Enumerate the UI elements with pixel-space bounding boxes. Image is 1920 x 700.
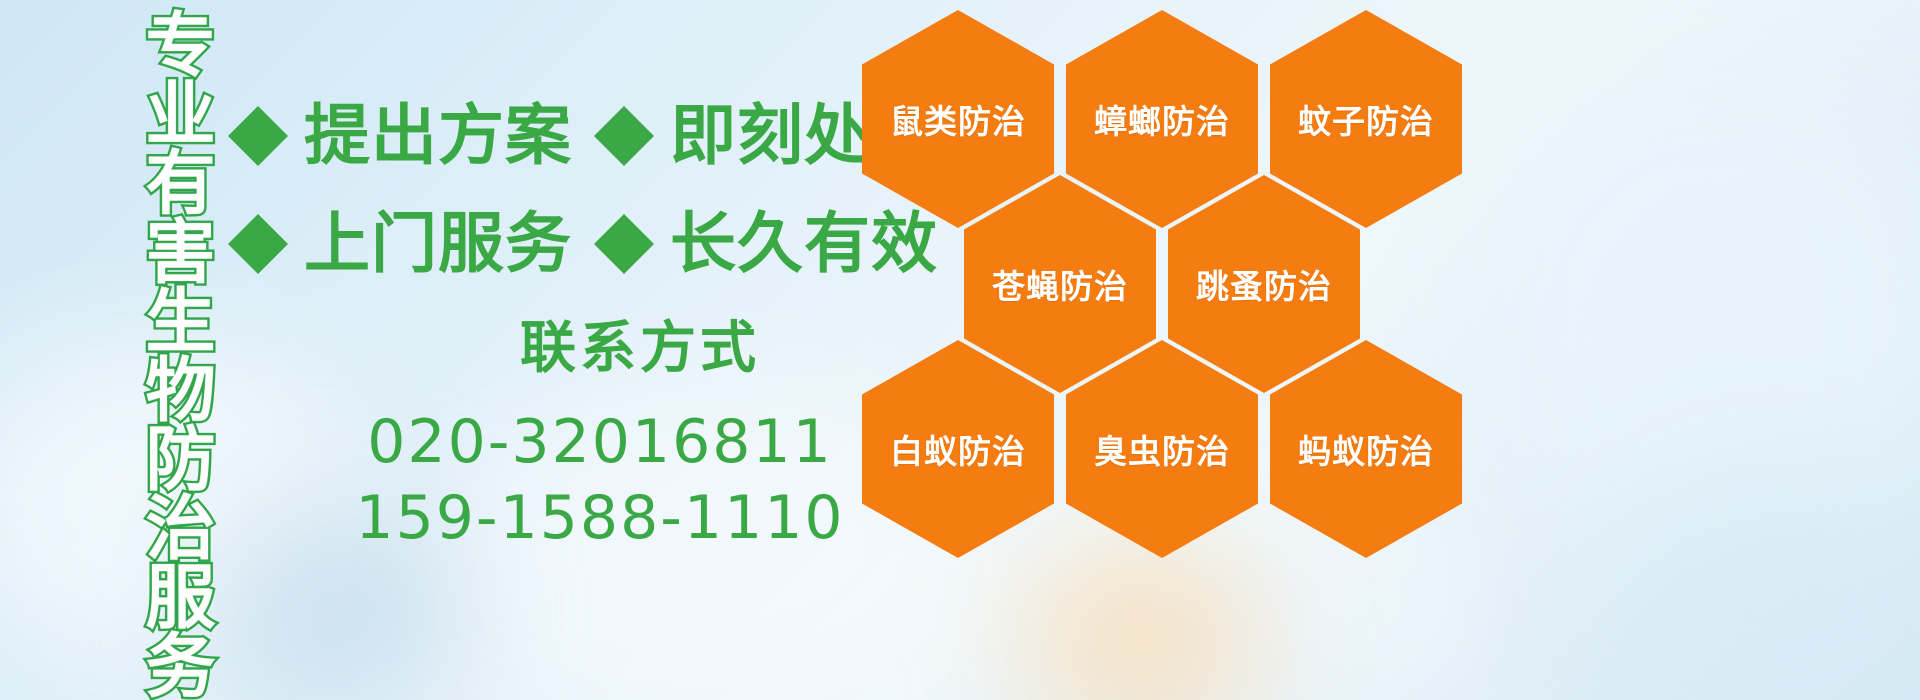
hex-cell-termite[interactable]: 白蚁防治	[862, 340, 1054, 558]
hex-label: 鼠类防治	[890, 95, 1026, 143]
vertical-headline: 专业有害生物防治服务	[100, 8, 210, 578]
diamond-icon	[228, 184, 288, 244]
hex-label: 臭虫防治	[1094, 425, 1230, 473]
hex-label: 白蚁防治	[890, 425, 1026, 473]
hex-label: 蚂蚁防治	[1298, 425, 1434, 473]
feature-label: 上门服务	[304, 211, 572, 277]
diamond-icon	[228, 76, 288, 136]
promo-banner: 专业有害生物防治服务 提出方案 即刻处理 上门服务 长久有效 联系方式 0	[0, 0, 1920, 700]
hex-label: 蟑螂防治	[1094, 95, 1230, 143]
hex-cell-bedbug[interactable]: 臭虫防治	[1066, 340, 1258, 558]
diamond-icon	[594, 184, 654, 244]
feature-row: 提出方案 即刻处理	[228, 82, 868, 190]
diamond-icon	[594, 76, 654, 136]
feature-row: 上门服务 长久有效	[228, 190, 868, 298]
hex-label: 跳蚤防治	[1196, 260, 1332, 308]
hex-label: 苍蝇防治	[992, 260, 1128, 308]
background-blur-blob	[1600, 470, 1920, 700]
contact-block: 联系方式 020-32016811 159-1588-1110	[300, 318, 860, 557]
feature-item: 上门服务	[228, 211, 572, 277]
background-blur-blob	[1480, 80, 1920, 600]
feature-list: 提出方案 即刻处理 上门服务 长久有效	[228, 82, 868, 298]
hex-label: 蚊子防治	[1298, 95, 1434, 143]
phone-number-landline[interactable]: 020-32016811	[300, 404, 860, 481]
hex-cell-ant[interactable]: 蚂蚁防治	[1270, 340, 1462, 558]
service-hexagon-grid: 鼠类防治 蟑螂防治 蚊子防治 苍蝇防治 跳蚤防治 白蚁防治	[862, 0, 1462, 565]
contact-title: 联系方式	[300, 318, 860, 380]
phone-number-mobile[interactable]: 159-1588-1110	[300, 480, 860, 557]
feature-item: 提出方案	[228, 103, 572, 169]
feature-label: 提出方案	[304, 103, 572, 169]
